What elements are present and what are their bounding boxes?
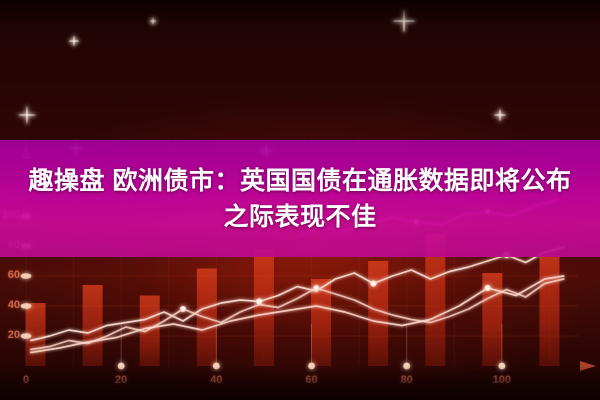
title-line-2: 之际表现不佳: [223, 200, 376, 234]
title-line-1: 趣操盘 欧洲债市：英国国债在通胀数据即将公布: [29, 164, 572, 198]
title-block: 趣操盘 欧洲债市：英国国债在通胀数据即将公布 之际表现不佳: [0, 140, 600, 257]
banner-image: 20406080100020406080100 趣操盘 欧洲债市：英国国债在通胀…: [0, 0, 600, 400]
